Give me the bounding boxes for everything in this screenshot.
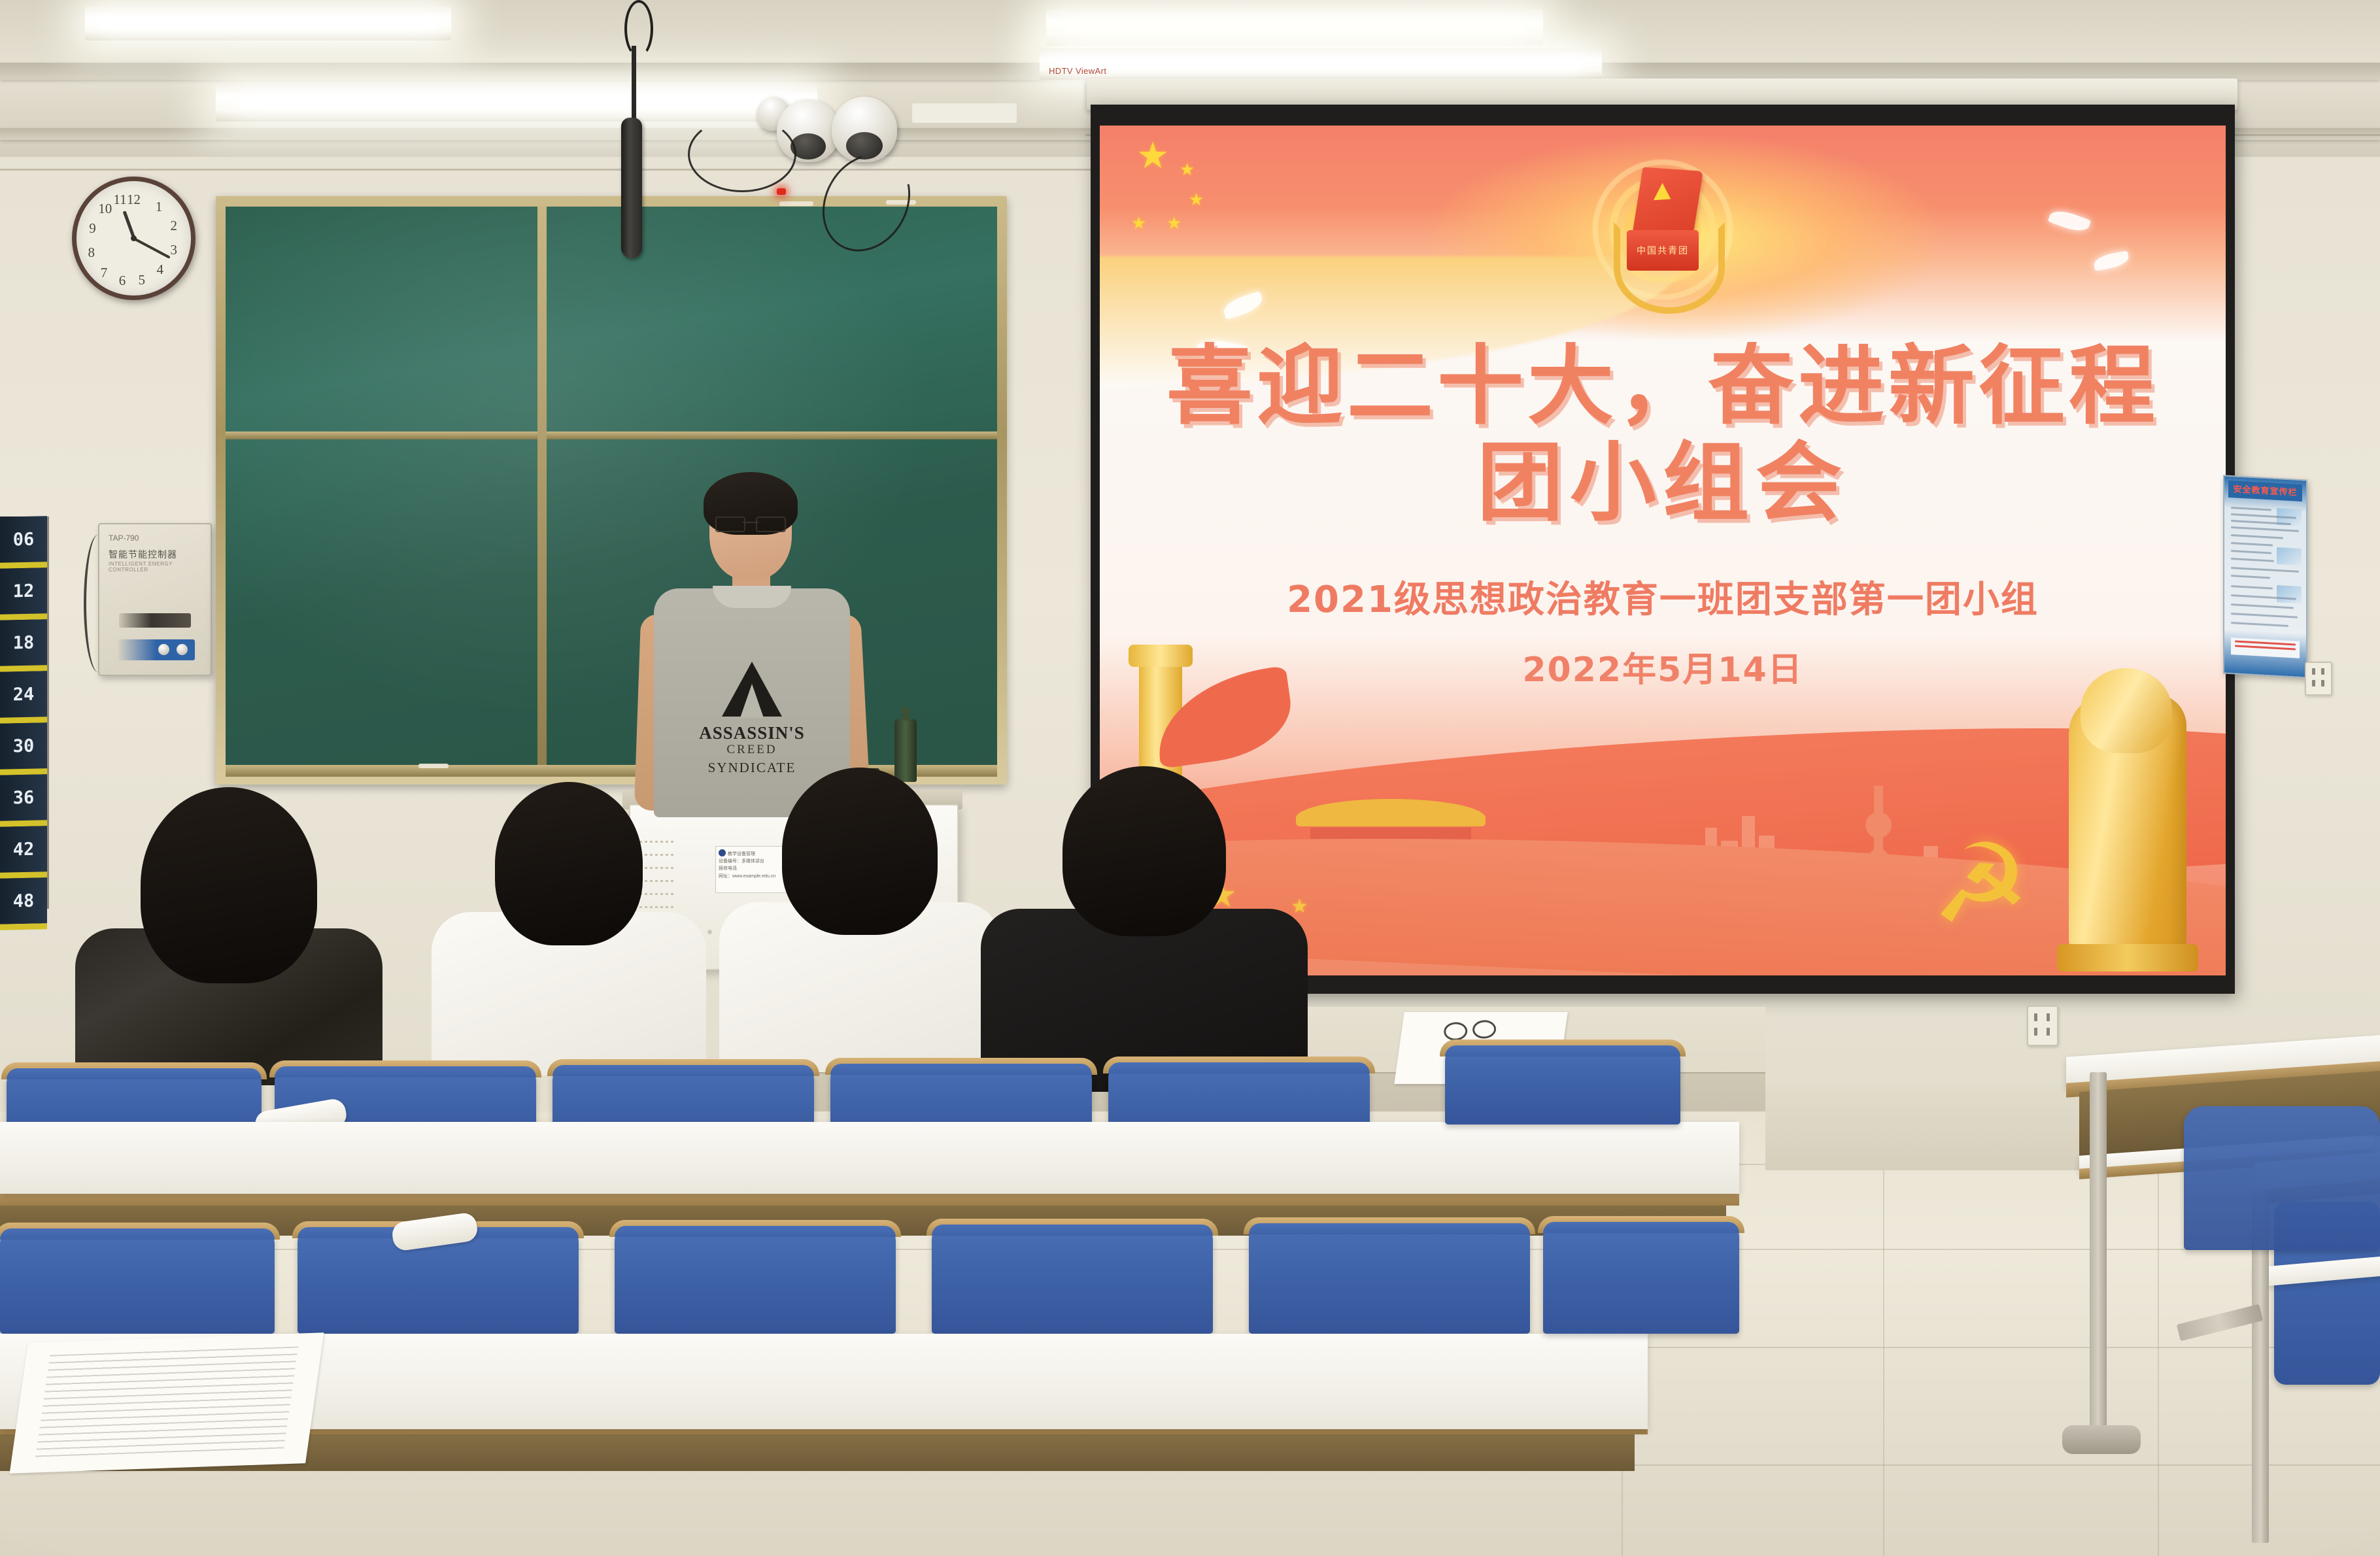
guardian-lion-decor — [2069, 694, 2186, 956]
safety-education-poster: 安全教育宣传栏 — [2223, 475, 2307, 678]
clock-numeral: 1 — [150, 200, 167, 213]
seat[interactable] — [1543, 1223, 1739, 1334]
shirt-text-line2: CREED — [654, 743, 850, 757]
clock-numeral: 2 — [165, 219, 182, 232]
microphone-stem — [632, 46, 636, 127]
poster-text-line — [2231, 507, 2271, 511]
seat[interactable] — [1249, 1224, 1530, 1334]
panel-button[interactable] — [177, 644, 188, 655]
panel-model-label: TAP-790 — [109, 533, 139, 543]
clock-numeral: 9 — [84, 222, 101, 235]
panel-title-label: 智能节能控制器 — [109, 548, 177, 561]
flag-star: ★ — [1166, 214, 1181, 231]
hammer-sickle-icon: ☭ — [1931, 835, 2030, 946]
row-number: 36 — [0, 774, 47, 827]
classroom-scene: HDTV ViewArt 12 1 2 3 4 5 6 7 8 9 10 11 … — [0, 0, 2380, 1556]
row-number: 06 — [0, 516, 47, 569]
seat-trim — [1538, 1216, 1744, 1233]
student-1 — [65, 778, 392, 1079]
glasses-lens — [715, 516, 745, 532]
seat-trim — [269, 1060, 541, 1077]
fluorescent-tube — [99, 20, 436, 29]
poster-text-line — [2231, 526, 2299, 532]
seat[interactable] — [932, 1225, 1213, 1334]
floor-tile-line — [2158, 1111, 2159, 1556]
row-number: 18 — [0, 619, 47, 672]
flag-star: ★ — [1131, 214, 1146, 231]
china-flag-decor: ★ ★ ★ ★ ★ — [1112, 131, 1308, 262]
clock-numeral: 5 — [133, 273, 150, 286]
row-number: 42 — [0, 826, 47, 879]
microphone-cable-loop — [624, 0, 653, 58]
student-3-head — [782, 768, 938, 935]
flag-star: ★ — [1136, 137, 1169, 174]
glasses-icon — [715, 516, 786, 530]
power-outlet[interactable] — [2027, 1006, 2058, 1046]
outlet-slot — [2321, 668, 2324, 675]
seat-trim — [1, 1062, 267, 1079]
seat[interactable] — [0, 1229, 275, 1334]
poster-text-line — [2231, 603, 2294, 609]
poster-text-line — [2231, 585, 2273, 590]
student-4-head — [1062, 766, 1226, 936]
glasses-lens — [756, 516, 786, 532]
green-chalkboard — [226, 207, 997, 774]
panel-display — [119, 613, 191, 628]
emblem-text: 中国共青团 — [1627, 230, 1699, 271]
panel-button-bar[interactable] — [118, 639, 195, 660]
poster-image — [2277, 547, 2302, 566]
camera-status-led — [777, 188, 786, 195]
seat-trim — [0, 1223, 280, 1240]
paper-sheet[interactable] — [10, 1332, 324, 1474]
outlet-slot — [2312, 668, 2315, 675]
panel-subtitle-label: INTELLIGENT ENERGY CONTROLLER — [109, 561, 211, 573]
student-1-head — [141, 787, 317, 983]
chalk-piece — [779, 201, 813, 206]
desk-row-1 — [0, 1122, 1739, 1194]
poster-text-line — [2231, 558, 2274, 562]
poster-text-line — [2231, 542, 2273, 547]
wall-seam — [0, 169, 1098, 171]
seat[interactable] — [1445, 1046, 1680, 1125]
clock-numeral: 4 — [152, 263, 169, 276]
panel-button[interactable] — [158, 644, 169, 655]
student-2 — [418, 771, 719, 1072]
glasses-on-desk[interactable] — [1443, 1019, 1496, 1039]
screen-brand-label: HDTV ViewArt — [1049, 66, 1106, 76]
row-number-markers: 06 12 18 24 30 36 42 48 — [0, 516, 49, 909]
row-number: 24 — [0, 671, 47, 724]
outlet-slot — [2312, 680, 2315, 686]
seat-trim — [609, 1220, 901, 1237]
assassins-creed-logo-icon — [722, 662, 782, 719]
desk-leg — [2090, 1072, 2107, 1438]
camera-mount-bracket — [912, 103, 1017, 123]
poster-text-line — [2231, 575, 2270, 579]
seat-trim — [825, 1058, 1097, 1075]
poster-text-line — [2231, 622, 2288, 627]
chalkboard-divider-rail — [537, 207, 547, 774]
hanging-microphone — [621, 118, 642, 258]
seat-trim — [547, 1059, 819, 1076]
dome-camera — [832, 97, 897, 162]
poster-text-line — [2231, 613, 2298, 618]
seat-trim — [926, 1219, 1218, 1236]
ceiling-lamp — [216, 84, 817, 122]
platform-step — [1765, 1085, 2132, 1170]
chalk-piece — [418, 764, 449, 768]
poster-footer-banner — [2231, 637, 2300, 658]
student-4 — [968, 758, 1321, 1085]
clock-numeral: 3 — [165, 243, 182, 256]
poster-image — [2277, 585, 2302, 603]
floor-tile-line — [1883, 1111, 1884, 1556]
flag-star: ★ — [1180, 161, 1195, 178]
ceiling-lamp — [85, 7, 451, 41]
clock-numeral: 7 — [95, 266, 112, 279]
poster-text-line — [2231, 567, 2299, 573]
outlet-slot — [2034, 1013, 2037, 1021]
clock-hour-hand — [122, 211, 135, 239]
fluorescent-tube — [1066, 23, 1523, 33]
row-number: 48 — [0, 877, 47, 930]
communist-youth-league-emblem: 中国共青团 — [1565, 139, 1761, 328]
seat[interactable] — [615, 1226, 896, 1334]
slide-subtitle: 2021级思想政治教育一班团支部第一团小组 — [1100, 570, 2226, 623]
row-number: 12 — [0, 567, 47, 620]
seat[interactable] — [2184, 1106, 2380, 1250]
paper-text-lines — [35, 1346, 299, 1459]
slide-title-line2: 团小组会 — [1100, 413, 2226, 538]
ceiling-lamp: HDTV ViewArt — [1040, 48, 1602, 80]
seat-trim — [1244, 1217, 1535, 1234]
outlet-slot — [2047, 1028, 2050, 1036]
clock-numeral: 8 — [83, 246, 100, 259]
flag-star: ★ — [1189, 191, 1204, 208]
fluorescent-tube — [240, 98, 793, 109]
shirt-text-line1: ASSASSIN'S — [654, 723, 850, 743]
seat-trim — [1103, 1057, 1375, 1074]
clock-numeral: 6 — [114, 274, 131, 287]
wall-clock: 12 1 2 3 4 5 6 7 8 9 10 11 — [72, 177, 195, 300]
poster-text-line — [2231, 534, 2283, 539]
chalkboard-divider-rail — [226, 431, 997, 439]
student-2-head — [495, 782, 643, 945]
gate-roof — [1296, 799, 1486, 826]
outlet-slot — [2321, 680, 2324, 686]
seat-trim — [1440, 1040, 1686, 1057]
clock-center-pin — [131, 235, 137, 241]
power-outlet[interactable] — [2305, 662, 2332, 696]
camera-cable — [688, 116, 796, 192]
ceiling-lamp — [1046, 9, 1543, 46]
poster-title: 安全教育宣传栏 — [2228, 481, 2302, 501]
clock-minute-hand — [133, 237, 171, 259]
wall-control-panel[interactable]: TAP-790 智能节能控制器 INTELLIGENT ENERGY CONTR… — [98, 523, 212, 676]
desk-leg-foot — [2062, 1425, 2141, 1454]
outlet-slot — [2034, 1028, 2037, 1036]
clock-numeral: 11 — [112, 193, 129, 206]
poster-text-line — [2231, 550, 2271, 554]
row-number: 30 — [0, 722, 47, 775]
fluorescent-tube — [1062, 60, 1579, 69]
outlet-slot — [2047, 1013, 2050, 1021]
